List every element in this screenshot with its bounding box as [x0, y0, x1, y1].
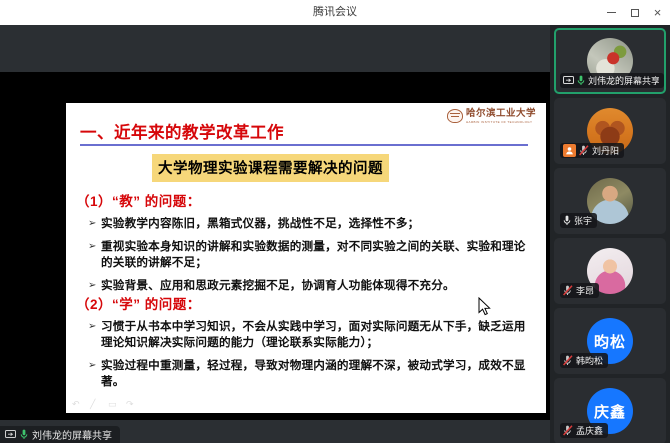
close-icon: × — [654, 8, 662, 17]
bullet-list-2: ➢ 习惯于从书本中学习知识，不会从实践中学习，面对实际问题无从下手，缺乏运用理论… — [88, 319, 536, 397]
list-item: ➢ 重视实验本身知识的讲解和实验数据的测量，对不同实验之间的关联、实验和理论的关… — [88, 239, 536, 271]
list-item-text: 实验背景、应用和思政元素挖掘不足，协调育人功能体现得不充分。 — [101, 278, 536, 294]
university-name-en: HARBIN INSTITUTE OF TECHNOLOGY — [466, 121, 536, 124]
microphone-muted-icon — [563, 425, 573, 436]
microphone-on-icon — [20, 429, 28, 440]
microphone-on-icon — [577, 75, 585, 86]
list-item: ➢ 实验教学内容陈旧，黑箱式仪器，挑战性不足，选择性不多； — [88, 216, 536, 232]
maximize-icon — [631, 9, 639, 17]
slide-highlight-title: 大学物理实验课程需要解决的问题 — [152, 154, 389, 182]
screen-share-icon — [563, 76, 574, 85]
university-name-cn: 哈尔滨工业大学 — [466, 109, 536, 119]
minimize-button[interactable] — [600, 0, 623, 25]
participant-tile-0[interactable]: 刘伟龙的屏幕共享 — [554, 28, 666, 94]
title-bar: 腾讯会议 × — [0, 0, 670, 26]
tencent-meeting-window: 腾讯会议 × 哈尔滨工业大学 HARBIN INSTITUTE OF TECHN… — [0, 0, 670, 443]
participant-name: 李昂 — [576, 284, 594, 297]
participant-name-tag: 刘伟龙的屏幕共享 — [560, 73, 664, 88]
participant-name: 孟庆鑫 — [576, 424, 603, 437]
microphone-muted-icon — [563, 355, 573, 366]
participant-name-tag: 李昂 — [560, 283, 599, 298]
participant-name: 刘伟龙的屏幕共享 — [588, 74, 659, 87]
participant-name: 张宇 — [574, 214, 592, 227]
section-label-1: （1）“教” 的问题： — [76, 190, 201, 210]
slide-heading: 一、近年来的教学改革工作 — [80, 119, 284, 143]
bullet-list-1: ➢ 实验教学内容陈旧，黑箱式仪器，挑战性不足，选择性不多； ➢ 重视实验本身知识… — [88, 216, 536, 301]
list-item-text: 实验教学内容陈旧，黑箱式仪器，挑战性不足，选择性不多； — [101, 216, 536, 232]
list-item-text: 重视实验本身知识的讲解和实验数据的测量，对不同实验之间的关联、实验和理论的关联的… — [101, 239, 536, 271]
participant-name: 刘丹阳 — [592, 144, 619, 157]
pen-icon[interactable]: ╱ — [90, 400, 99, 409]
participant-tile-4[interactable]: 昀松 韩昀松 — [554, 308, 666, 374]
bullet-arrow-icon: ➢ — [88, 239, 101, 255]
microphone-muted-icon — [563, 285, 573, 296]
host-badge-icon — [563, 144, 576, 157]
participant-tile-3[interactable]: 李昂 — [554, 238, 666, 304]
share-status-bar: 刘伟龙的屏幕共享 — [0, 426, 120, 443]
participant-tile-5[interactable]: 庆鑫 孟庆鑫 — [554, 378, 666, 443]
list-item: ➢ 习惯于从书本中学习知识，不会从实践中学习，面对实际问题无从下手，缺乏运用理论… — [88, 319, 536, 351]
presenter-toolbar[interactable]: ↶ ╱ ▭ ↷ — [72, 400, 135, 409]
microphone-muted-icon — [579, 145, 589, 156]
list-item-text: 习惯于从书本中学习知识，不会从实践中学习，面对实际问题无从下手，缺乏运用理论知识… — [101, 319, 536, 351]
bullet-arrow-icon: ➢ — [88, 278, 101, 294]
window-title: 腾讯会议 — [0, 0, 670, 25]
screen-share-icon — [5, 430, 16, 439]
participant-tile-1[interactable]: 刘丹阳 — [554, 98, 666, 164]
microphone-on-icon — [563, 215, 571, 226]
slide-divider — [80, 144, 528, 146]
presentation-slide: 哈尔滨工业大学 HARBIN INSTITUTE OF TECHNOLOGY 一… — [66, 103, 546, 413]
participant-sidebar[interactable]: 刘伟龙的屏幕共享 刘丹阳 张宇 — [550, 25, 670, 443]
mouse-cursor-icon — [478, 297, 492, 316]
university-logo: 哈尔滨工业大学 HARBIN INSTITUTE OF TECHNOLOGY — [447, 109, 536, 124]
next-slide-icon[interactable]: ↷ — [126, 400, 135, 409]
bullet-arrow-icon: ➢ — [88, 358, 101, 374]
close-button[interactable]: × — [646, 0, 669, 25]
participant-name: 韩昀松 — [576, 354, 603, 367]
bullet-arrow-icon: ➢ — [88, 216, 101, 232]
participant-name-tag: 张宇 — [560, 213, 597, 228]
minimize-icon — [607, 12, 616, 13]
participant-tile-2[interactable]: 张宇 — [554, 168, 666, 234]
maximize-button[interactable] — [623, 0, 646, 25]
participant-name-tag: 韩昀松 — [560, 353, 608, 368]
list-item-text: 实验过程中重测量，轻过程，导致对物理内涵的理解不深，被动式学习，成效不显著。 — [101, 358, 536, 390]
university-crest-icon — [447, 109, 463, 123]
section-label-2: （2）“学” 的问题： — [76, 293, 201, 313]
participant-name-tag: 孟庆鑫 — [560, 423, 608, 438]
bullet-arrow-icon: ➢ — [88, 319, 101, 335]
shared-screen-stage: 哈尔滨工业大学 HARBIN INSTITUTE OF TECHNOLOGY 一… — [0, 25, 550, 443]
list-item: ➢ 实验背景、应用和思政元素挖掘不足，协调育人功能体现得不充分。 — [88, 278, 536, 294]
list-item: ➢ 实验过程中重测量，轻过程，导致对物理内涵的理解不深，被动式学习，成效不显著。 — [88, 358, 536, 390]
slide-view-icon[interactable]: ▭ — [108, 400, 117, 409]
share-status-label: 刘伟龙的屏幕共享 — [32, 427, 112, 442]
participant-name-tag: 刘丹阳 — [560, 143, 624, 158]
prev-slide-icon[interactable]: ↶ — [72, 400, 81, 409]
